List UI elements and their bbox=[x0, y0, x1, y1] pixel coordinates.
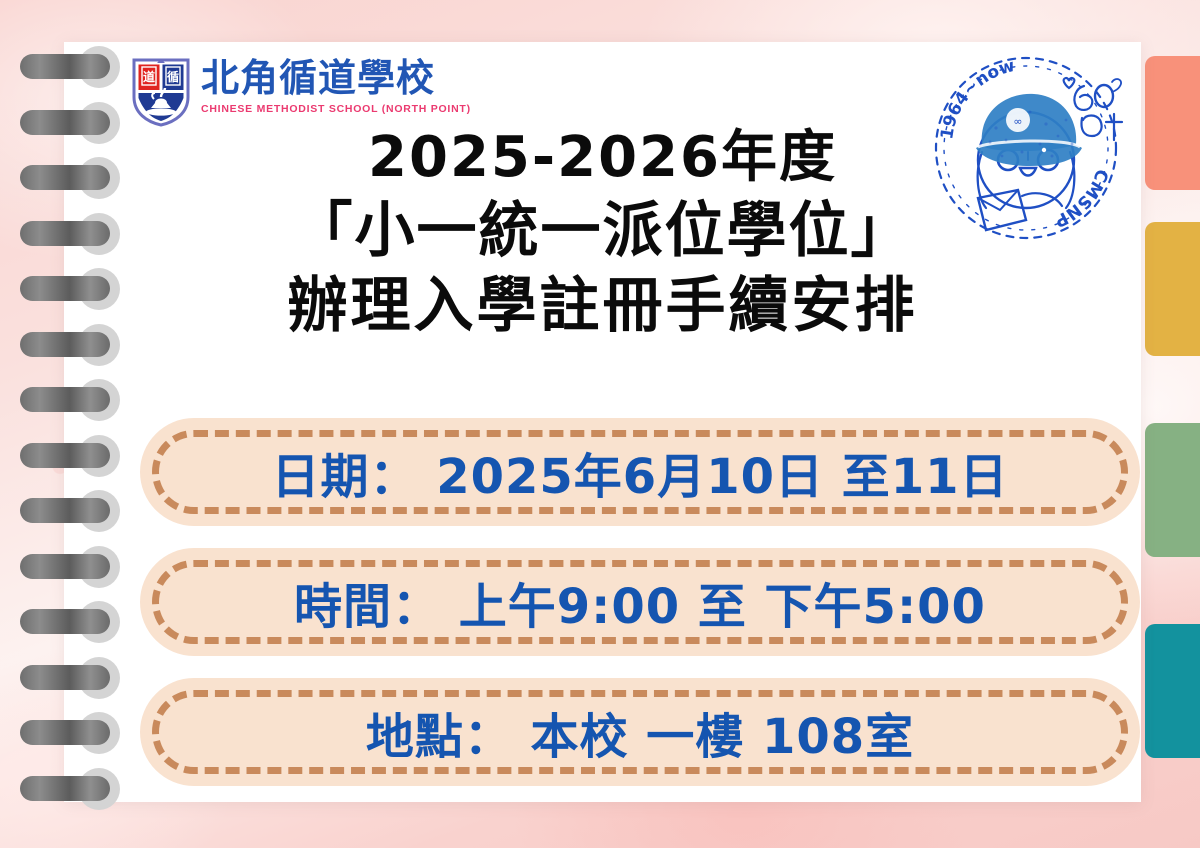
tab-teal[interactable] bbox=[1145, 624, 1200, 758]
crest-char-right: 循 bbox=[167, 69, 179, 84]
info-pill-venue: 地點： 本校 一樓 108室 bbox=[140, 678, 1140, 786]
headline-line-3: 辦理入學註冊手續安排 bbox=[64, 273, 1141, 340]
info-pill-time: 時間： 上午9:00 至 下午5:00 bbox=[140, 548, 1140, 656]
poster-canvas: 道 循 北角循道學校 CHINESE METHODIST SCHOOL (NOR… bbox=[0, 0, 1200, 848]
tab-green[interactable] bbox=[1145, 423, 1200, 557]
tab-yellow[interactable] bbox=[1145, 222, 1200, 356]
info-pill-list: 日期： 2025年6月10日 至11日 時間： 上午9:00 至 下午5:00 … bbox=[140, 418, 1140, 808]
spiral-ring bbox=[20, 554, 110, 579]
headline-line-2: 「小一統一派位學位」 bbox=[64, 198, 1141, 265]
spiral-ring bbox=[20, 776, 110, 801]
tab-coral[interactable] bbox=[1145, 56, 1200, 190]
spiral-ring bbox=[20, 498, 110, 523]
crest-char-left: 道 bbox=[143, 69, 155, 84]
info-pill-date: 日期： 2025年6月10日 至11日 bbox=[140, 418, 1140, 526]
info-pill-venue-text: 地點： 本校 一樓 108室 bbox=[366, 697, 914, 767]
page-title: 2025-2026年度 「小一統一派位學位」 辦理入學註冊手續安排 bbox=[64, 127, 1141, 340]
info-pill-time-text: 時間： 上午9:00 至 下午5:00 bbox=[294, 567, 986, 637]
spiral-ring bbox=[20, 665, 110, 690]
school-logo-block: 道 循 北角循道學校 CHINESE METHODIST SCHOOL (NOR… bbox=[131, 57, 471, 127]
school-name-en: CHINESE METHODIST SCHOOL (NORTH POINT) bbox=[201, 103, 471, 115]
info-pill-date-text: 日期： 2025年6月10日 至11日 bbox=[271, 437, 1008, 507]
school-crest-icon: 道 循 bbox=[131, 57, 191, 127]
spiral-ring bbox=[20, 54, 110, 79]
spiral-ring bbox=[20, 387, 110, 412]
headline-line-1: 2025-2026年度 bbox=[64, 127, 1141, 190]
spiral-ring bbox=[20, 609, 110, 634]
spiral-ring bbox=[20, 720, 110, 745]
spiral-ring bbox=[20, 443, 110, 468]
school-name-zh: 北角循道學校 bbox=[201, 59, 471, 99]
